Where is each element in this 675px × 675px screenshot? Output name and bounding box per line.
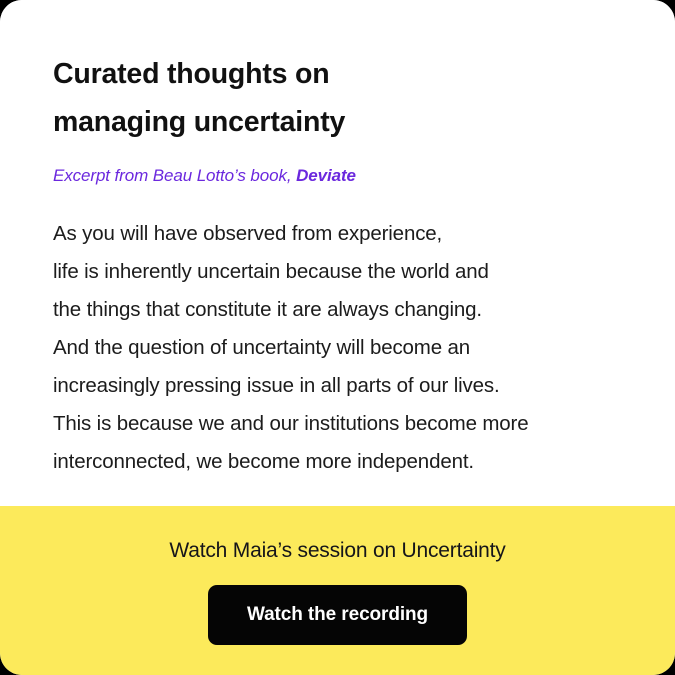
- book-title: Deviate: [296, 166, 356, 185]
- excerpt-section: Curated thoughts on managing uncertainty…: [0, 0, 675, 506]
- content-card: Curated thoughts on managing uncertainty…: [0, 0, 675, 675]
- cta-heading: Watch Maia’s session on Uncertainty: [169, 537, 505, 565]
- attribution-prefix: Excerpt from Beau Lotto’s book,: [53, 166, 296, 185]
- watch-the-recording-button[interactable]: Watch the recording: [208, 585, 467, 645]
- excerpt-body-text: As you will have observed from experienc…: [53, 215, 631, 481]
- page-title: Curated thoughts on managing uncertainty: [53, 50, 631, 146]
- source-attribution: Excerpt from Beau Lotto’s book, Deviate: [53, 165, 631, 187]
- cta-section: Watch Maia’s session on Uncertainty Watc…: [0, 506, 675, 675]
